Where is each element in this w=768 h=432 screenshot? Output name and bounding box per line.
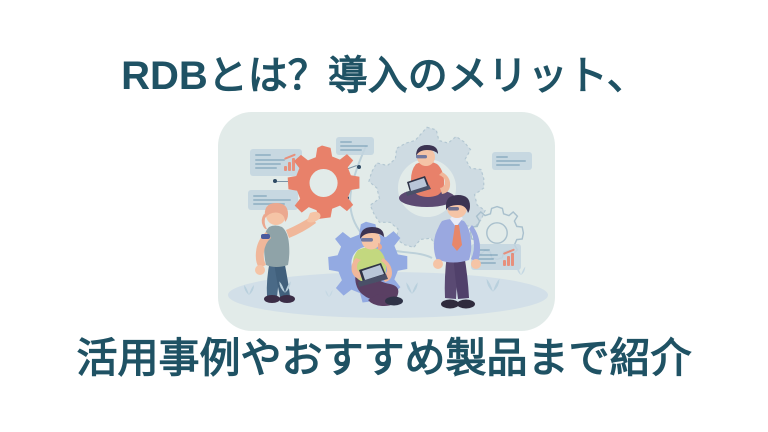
grass-tuft-icon	[404, 279, 420, 295]
page-title-line-2: 活用事例やおすすめ製品まで紹介	[0, 333, 768, 383]
person-standing-businessman	[426, 192, 508, 312]
teamwork-gears-illustration	[218, 112, 555, 331]
person-seated-blue-gear	[336, 222, 418, 308]
grass-tuft-icon	[277, 278, 293, 294]
grass-tuft-icon	[324, 288, 334, 298]
thumbnail-canvas: RDBとは？導入のメリット、	[0, 0, 768, 432]
info-card-right	[492, 152, 532, 170]
page-title-line-1: RDBとは？導入のメリット、	[0, 52, 768, 100]
grass-tuft-icon	[515, 264, 527, 276]
grass-tuft-icon	[242, 282, 256, 296]
grass-tuft-icon	[484, 275, 502, 293]
connector-dot-left	[273, 179, 277, 183]
